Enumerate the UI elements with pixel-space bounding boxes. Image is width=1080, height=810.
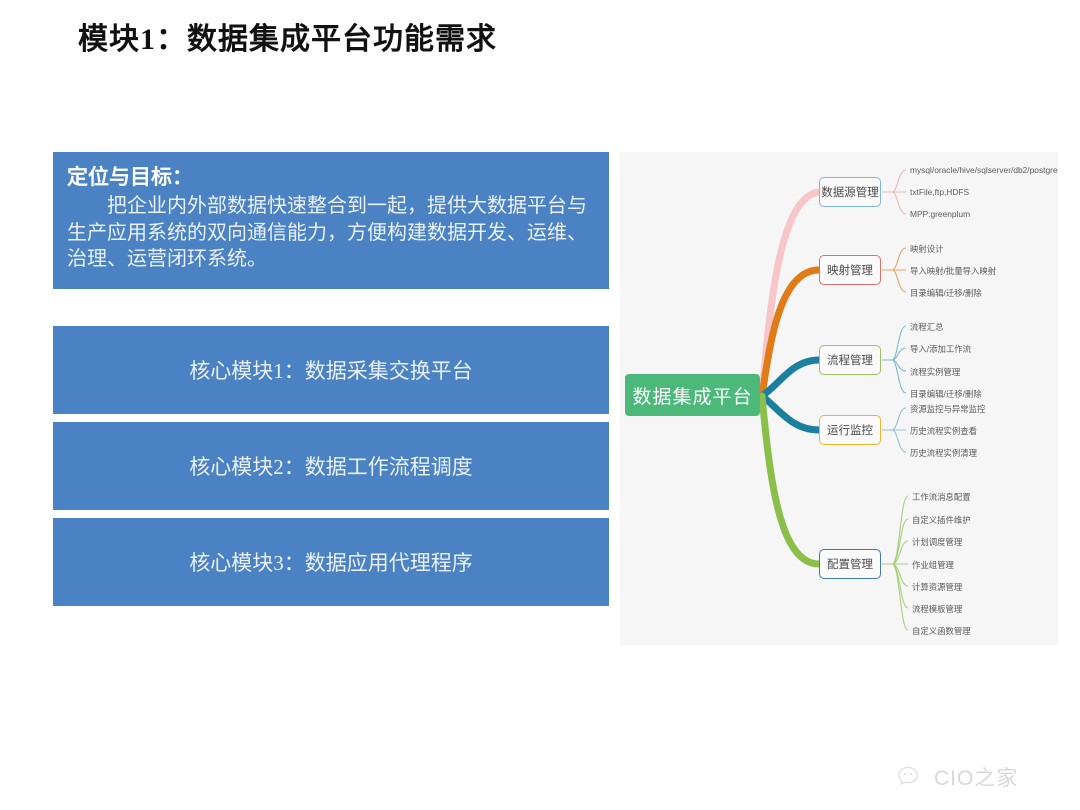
spacer (53, 289, 609, 326)
mindmap-node-data-source-label: 数据源管理 (821, 184, 879, 200)
mindmap-leaf: 工作流消息配置 (912, 491, 971, 503)
mindmap-leaf: 流程汇总 (910, 321, 944, 333)
mindmap-node-process[interactable]: 流程管理 (819, 345, 881, 375)
mindmap-leaf: 导入映射/批量导入映射 (910, 265, 996, 277)
mindmap-center-node[interactable]: 数据集成平台 (625, 374, 760, 416)
mindmap-leaf: 流程实例管理 (910, 366, 960, 378)
page-title: 模块1：数据集成平台功能需求 (78, 14, 497, 58)
mindmap-node-config[interactable]: 配置管理 (819, 549, 881, 579)
mindmap-leaf: 自定义函数管理 (912, 625, 971, 637)
watermark-text: CIO之家 (934, 762, 1018, 792)
mindmap-leaf: 目录编辑/迁移/删除 (910, 388, 982, 400)
mindmap-node-mapping-label: 映射管理 (827, 262, 873, 278)
module-bar-2-label: 核心模块2：数据工作流程调度 (189, 451, 473, 481)
goal-heading: 定位与目标： (67, 164, 595, 191)
mindmap-leaf: txtFile,ftp,HDFS (910, 187, 969, 197)
mindmap-leaf: 计算资源管理 (912, 581, 962, 593)
mindmap-node-data-source[interactable]: 数据源管理 (819, 177, 881, 207)
goal-box: 定位与目标： 把企业内外部数据快速整合到一起，提供大数据平台与生产应用系统的双向… (53, 152, 609, 289)
mindmap-leaf: 导入/添加工作流 (910, 343, 971, 355)
spacer (53, 414, 609, 422)
spacer (53, 510, 609, 518)
wechat-bubble-icon (897, 765, 927, 789)
left-column: 定位与目标： 把企业内外部数据快速整合到一起，提供大数据平台与生产应用系统的双向… (53, 152, 609, 606)
mindmap-node-process-label: 流程管理 (827, 352, 873, 368)
mindmap-leaf: 映射设计 (910, 243, 944, 255)
mindmap-leaf: 作业组管理 (912, 559, 954, 571)
module-bar-3[interactable]: 核心模块3：数据应用代理程序 (53, 518, 609, 606)
mindmap-leaf: MPP:greenplum (910, 209, 970, 219)
mindmap-leaf: mysql/oracle/hive/sqlserver/db2/postgres… (910, 165, 1058, 175)
mindmap-leaf: 资源监控与异常监控 (910, 403, 985, 415)
mindmap-node-monitor-label: 运行监控 (827, 422, 873, 438)
mindmap-leaf: 自定义插件维护 (912, 514, 971, 526)
watermark: CIO之家 (897, 762, 1018, 792)
mindmap-leaf: 历史流程实例清理 (910, 447, 977, 459)
slide-root: 模块1：数据集成平台功能需求 定位与目标： 把企业内外部数据快速整合到一起，提供… (0, 0, 1080, 810)
module-bar-2[interactable]: 核心模块2：数据工作流程调度 (53, 422, 609, 510)
mindmap-center-label: 数据集成平台 (632, 382, 752, 409)
mindmap-panel: 数据集成平台 数据源管理 映射管理 流程管理 运行监控 配置管理 mysql/o… (620, 152, 1058, 645)
mindmap-node-mapping[interactable]: 映射管理 (819, 255, 881, 285)
module-bar-1[interactable]: 核心模块1：数据采集交换平台 (53, 326, 609, 414)
goal-body: 把企业内外部数据快速整合到一起，提供大数据平台与生产应用系统的双向通信能力，方便… (67, 193, 595, 273)
mindmap-leaf: 历史流程实例查看 (910, 425, 977, 437)
mindmap-leaf: 目录编辑/迁移/删除 (910, 287, 982, 299)
module-bar-3-label: 核心模块3：数据应用代理程序 (189, 547, 473, 577)
module-bar-1-label: 核心模块1：数据采集交换平台 (189, 355, 473, 385)
mindmap-node-config-label: 配置管理 (827, 556, 873, 572)
mindmap-leaf: 计划调度管理 (912, 536, 962, 548)
mindmap-node-monitor[interactable]: 运行监控 (819, 415, 881, 445)
mindmap-leaf: 流程模板管理 (912, 603, 962, 615)
